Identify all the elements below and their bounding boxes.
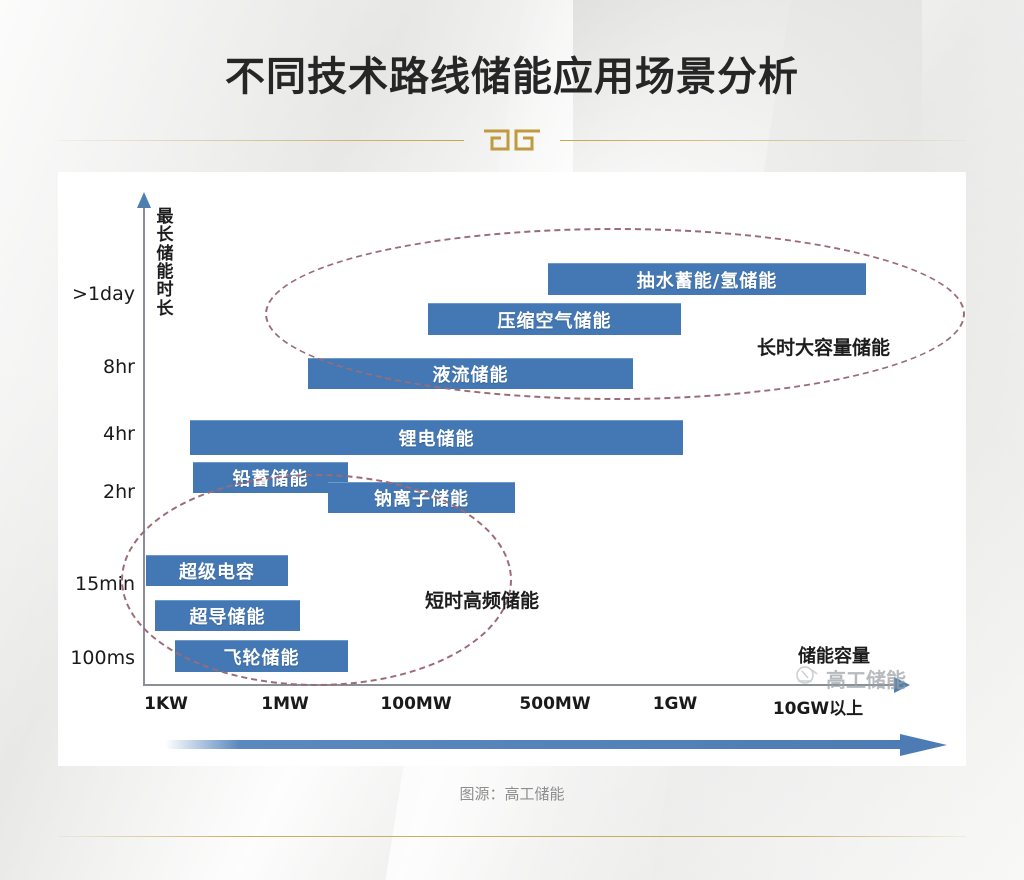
page-header: 不同技术路线储能应用场景分析 [0,0,1024,165]
page-title: 不同技术路线储能应用场景分析 [0,44,1024,102]
y-axis-tick-label: >1day [61,283,143,305]
footer-divider [58,836,966,837]
x-axis-tick-label: 1MW [261,694,309,714]
bar-4: 锂电储能 [190,420,683,455]
x-axis-tick-label: 1KW [144,694,188,714]
y-axis-tick-label: 2hr [61,481,143,503]
y-axis-tick-group: >1day8hr4hr2hr15min100ms [58,172,143,766]
greek-key-ornament-icon [480,127,544,153]
bar-2: 压缩空气储能 [428,303,681,335]
y-axis-tick-label: 15min [61,573,143,595]
y-axis-tick-label: 4hr [61,423,143,445]
bar-7: 超级电容 [146,555,288,586]
bar-6: 钠离子储能 [328,482,515,513]
bar-5: 铅蓄储能 [193,462,348,493]
capacity-direction-arrow-icon [165,734,947,756]
x-axis-tick-label: 1GW [653,694,698,714]
bar-3: 液流储能 [308,358,633,389]
gaogong-logo-icon [794,665,820,692]
bar-1: 抽水蓄能/氢储能 [548,263,866,295]
chart-annotation-1: 长时大容量储能 [757,333,890,360]
x-axis-tick-label: 10GW以上 [773,694,863,719]
y-axis-line [143,204,145,685]
chart-card: 最长储能时长 储能容量 >1day8hr4hr2hr15min100ms 1KW… [58,172,966,766]
x-axis-line [143,684,895,686]
y-axis-tick-label: 8hr [61,356,143,378]
x-axis-tick-label: 500MW [519,694,590,714]
divider-line-right [560,140,966,141]
divider-line-left [58,140,464,141]
watermark-text: 高工储能 [826,664,906,693]
bar-9: 飞轮储能 [175,640,348,672]
y-axis-tick-label: 100ms [61,647,143,669]
watermark: 高工储能 [794,664,906,693]
chart-annotation-2: 短时高频储能 [425,586,539,613]
y-axis-title: 最长储能时长 [152,208,178,318]
header-divider [58,125,966,155]
x-axis-tick-label: 100MW [380,694,451,714]
source-caption: 图源：高工储能 [0,783,1024,804]
bar-8: 超导储能 [155,600,300,631]
chart-plot-area: 最长储能时长 储能容量 >1day8hr4hr2hr15min100ms 1KW… [58,172,966,766]
